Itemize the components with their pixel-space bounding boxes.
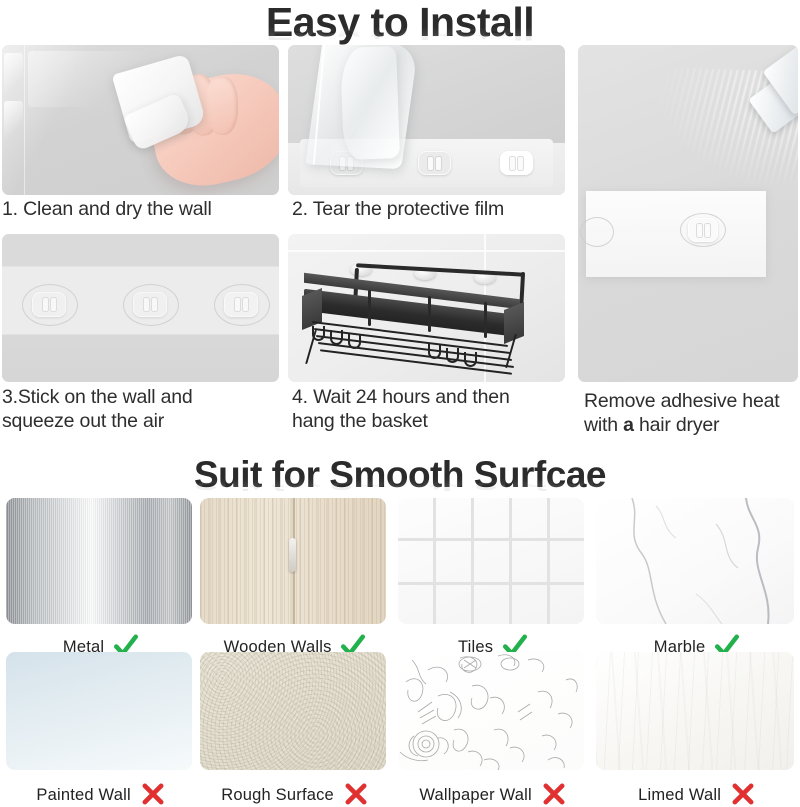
surface-label-limed-wall: Limed Wall [596, 774, 794, 805]
tile-grout-line [288, 250, 565, 252]
pad-outline [123, 284, 179, 326]
pad-tab [705, 224, 710, 237]
pad-tab [697, 224, 702, 237]
pad-tab [436, 157, 441, 170]
surface-swatch-painted-wall [6, 652, 192, 770]
caption-line-1: Remove adhesive heat [584, 390, 779, 412]
limewash-texture [596, 652, 794, 770]
grout-line [398, 538, 584, 541]
surfaces-heading-container: Suit for Smooth Surfcae Suit for Smooth … [0, 456, 800, 493]
caption-line-2-post: hair dryer [634, 414, 720, 436]
surface-label-rough-surface: Rough Surface [200, 774, 386, 805]
product-infographic: Easy to Install Easy to Install 1. Clean… [0, 0, 800, 800]
hair-dryer-caption: Remove adhesive heatwith a hair dryer [584, 390, 800, 438]
basket-hook [330, 330, 343, 345]
surface-label-painted-wall: Painted Wall [6, 774, 192, 805]
painted-wall-texture [6, 652, 192, 770]
pad-tab [428, 157, 433, 170]
protective-film-curl [340, 46, 400, 160]
rough-stucco-texture [200, 652, 386, 770]
grout-line [547, 498, 550, 624]
step-4-caption: 4. Wait 24 hours and then hang the baske… [292, 386, 577, 434]
step-2-image [288, 45, 565, 195]
surface-swatch-metal [6, 498, 192, 624]
cross-icon [343, 781, 369, 807]
hair-dryer-image [578, 45, 798, 382]
basket-hook [428, 344, 441, 359]
step-2-caption: 2. Tear the protective film [292, 198, 577, 222]
wall-highlight [4, 101, 23, 141]
surface-swatch-wooden-walls [200, 498, 386, 624]
surface-label-wallpaper-wall: Wallpaper Wall [398, 774, 584, 805]
wall-seam [24, 45, 25, 195]
pad-outline [22, 284, 78, 326]
cross-icon [730, 781, 756, 807]
step-4-image [288, 234, 565, 382]
caption-line-2-pre: with [584, 414, 623, 436]
install-heading-text: Easy to Install [266, 0, 534, 45]
basket-hook [312, 326, 325, 341]
adhesive-pad [500, 151, 533, 175]
step-1-caption: 1. Clean and dry the wall [2, 198, 287, 222]
tile-texture [398, 498, 584, 624]
caption-line-2-bold: a [623, 414, 634, 436]
install-heading-container: Easy to Install Easy to Install [0, 2, 800, 43]
label-text: Wallpaper Wall [419, 786, 532, 804]
label-text: Rough Surface [221, 786, 334, 804]
adhesive-pad [688, 218, 718, 242]
grout-line [471, 498, 474, 624]
marble-veining [596, 498, 794, 624]
surface-swatch-wallpaper-wall [398, 652, 584, 770]
install-heading: Easy to Install Easy to Install [266, 2, 534, 43]
step-3-caption: 3.Stick on the wall and squeeze out the … [2, 386, 287, 434]
step-3-image [2, 234, 279, 382]
surface-swatch-rough-surface [200, 652, 386, 770]
finger [205, 76, 239, 135]
basket-hook [464, 352, 477, 367]
pad-outline [214, 284, 270, 326]
cross-icon [541, 781, 567, 807]
surfaces-heading: Suit for Smooth Surfcae Suit for Smooth … [194, 456, 606, 493]
basket-support [428, 296, 431, 332]
pad-tab [510, 157, 515, 170]
brushed-metal-texture [6, 498, 192, 624]
surface-swatch-tiles [398, 498, 584, 624]
surfaces-heading-text: Suit for Smooth Surfcae [194, 454, 606, 495]
surface-swatch-marble [596, 498, 794, 624]
cross-icon [140, 781, 166, 807]
pad-tab [518, 157, 523, 170]
step-1-image [2, 45, 279, 195]
basket-hook [446, 348, 459, 363]
surface-swatch-limed-wall [596, 652, 794, 770]
basket-hook [348, 334, 361, 349]
cabinet-handle [289, 538, 296, 572]
basket-support [368, 290, 371, 326]
basket-support [484, 302, 487, 338]
adhesive-pad [418, 151, 451, 175]
pad-outline [580, 217, 614, 247]
label-text: Painted Wall [36, 786, 130, 804]
wall-highlight [4, 53, 23, 95]
label-text: Limed Wall [638, 786, 721, 804]
grout-line [433, 498, 436, 624]
grout-line [398, 582, 584, 585]
grout-line [509, 498, 512, 624]
botanical-line-art [398, 652, 584, 770]
